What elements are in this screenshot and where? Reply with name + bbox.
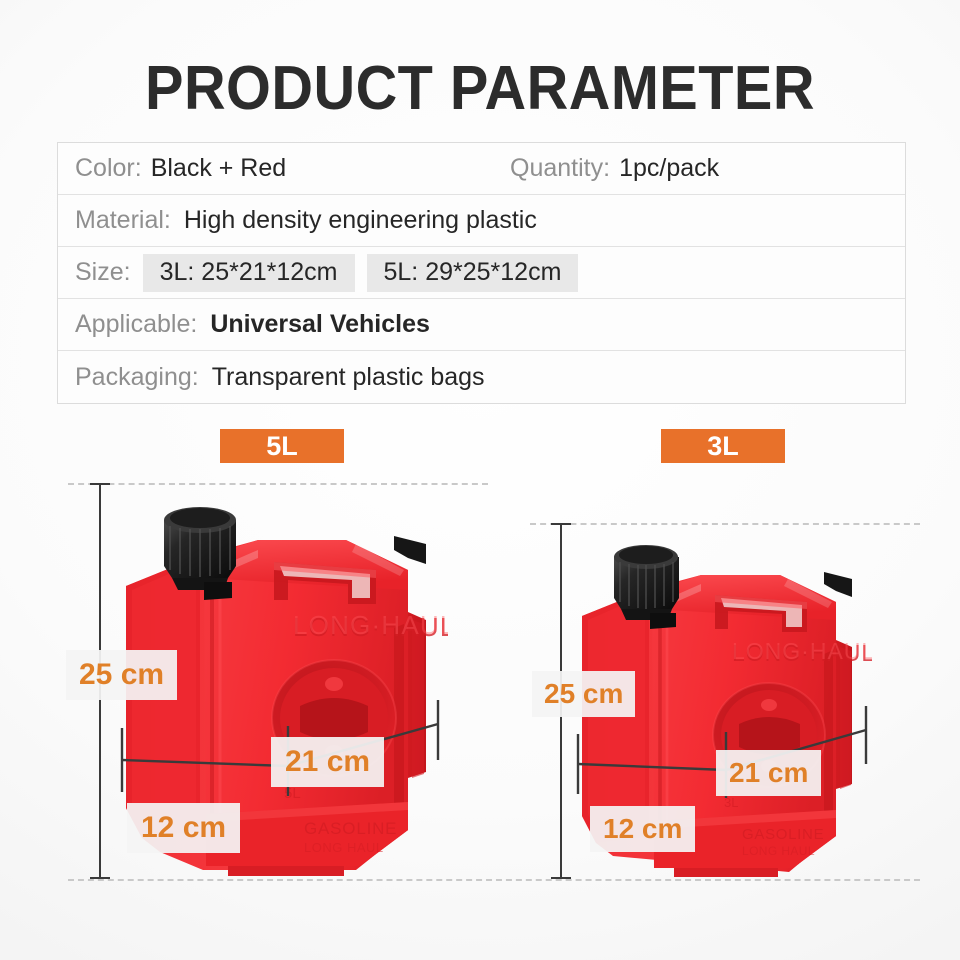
spec-row-material: Material: High density engineering plast… [58,195,905,247]
volume-badge-3l: 3L [661,429,785,463]
can-bottom-text-5l: GASOLINE [304,819,397,838]
dimension-width-5l: 21 cm [271,737,384,787]
spec-label-applicable: Applicable: [75,310,197,339]
spec-label-packaging: Packaging: [75,363,199,392]
spec-label-material: Material: [75,206,171,235]
svg-text:LONG·HAUL: LONG·HAUL [293,610,448,640]
spec-value-color: Black + Red [151,154,287,183]
product-parameter-infographic: PRODUCT PARAMETER Color: Black + Red Qua… [0,0,960,960]
spec-row-size: Size: 3L: 25*21*12cm 5L: 29*25*12cm [58,247,905,299]
spec-label-color: Color: [75,154,142,183]
spec-value-quantity: 1pc/pack [619,154,719,183]
can-rear-nub-3l [824,572,852,597]
can-rear-nub-5l [394,536,426,564]
page-title: PRODUCT PARAMETER [34,58,927,120]
spec-value-applicable: Universal Vehicles [210,310,430,339]
spec-row-color: Color: Black + Red Quantity: 1pc/pack [58,143,905,195]
svg-text:LONG HAUL: LONG HAUL [304,840,384,855]
can-bottom-text-3l: GASOLINE [742,826,824,843]
spec-group-quantity: Quantity: 1pc/pack [510,154,719,183]
dimension-depth-5l: 12 cm [127,803,240,853]
spec-row-packaging: Packaging: Transparent plastic bags [58,351,905,403]
measure-cap-bottom [551,877,571,879]
spec-row-applicable: Applicable: Universal Vehicles [58,299,905,351]
svg-text:LONG HAUL: LONG HAUL [742,844,815,858]
svg-text:5L: 5L [284,785,301,802]
dimension-depth-3l: 12 cm [590,806,695,852]
spec-value-packaging: Transparent plastic bags [212,363,485,392]
dimension-height-3l: 25 cm [532,671,635,717]
spec-table: Color: Black + Red Quantity: 1pc/pack Ma… [57,142,906,404]
dimension-width-3l: 21 cm [716,750,821,796]
spec-label-size: Size: [75,258,131,287]
size-chip-3l: 3L: 25*21*12cm [143,254,355,292]
svg-text:LONG·HAUL: LONG·HAUL [732,638,872,664]
size-chip-5l: 5L: 29*25*12cm [367,254,579,292]
svg-text:3L: 3L [724,795,738,810]
spec-label-quantity: Quantity: [510,154,610,183]
dimension-height-5l: 25 cm [66,650,177,700]
measure-cap-bottom [90,877,110,879]
volume-badge-5l: 5L [220,429,344,463]
spec-value-material: High density engineering plastic [184,206,537,235]
